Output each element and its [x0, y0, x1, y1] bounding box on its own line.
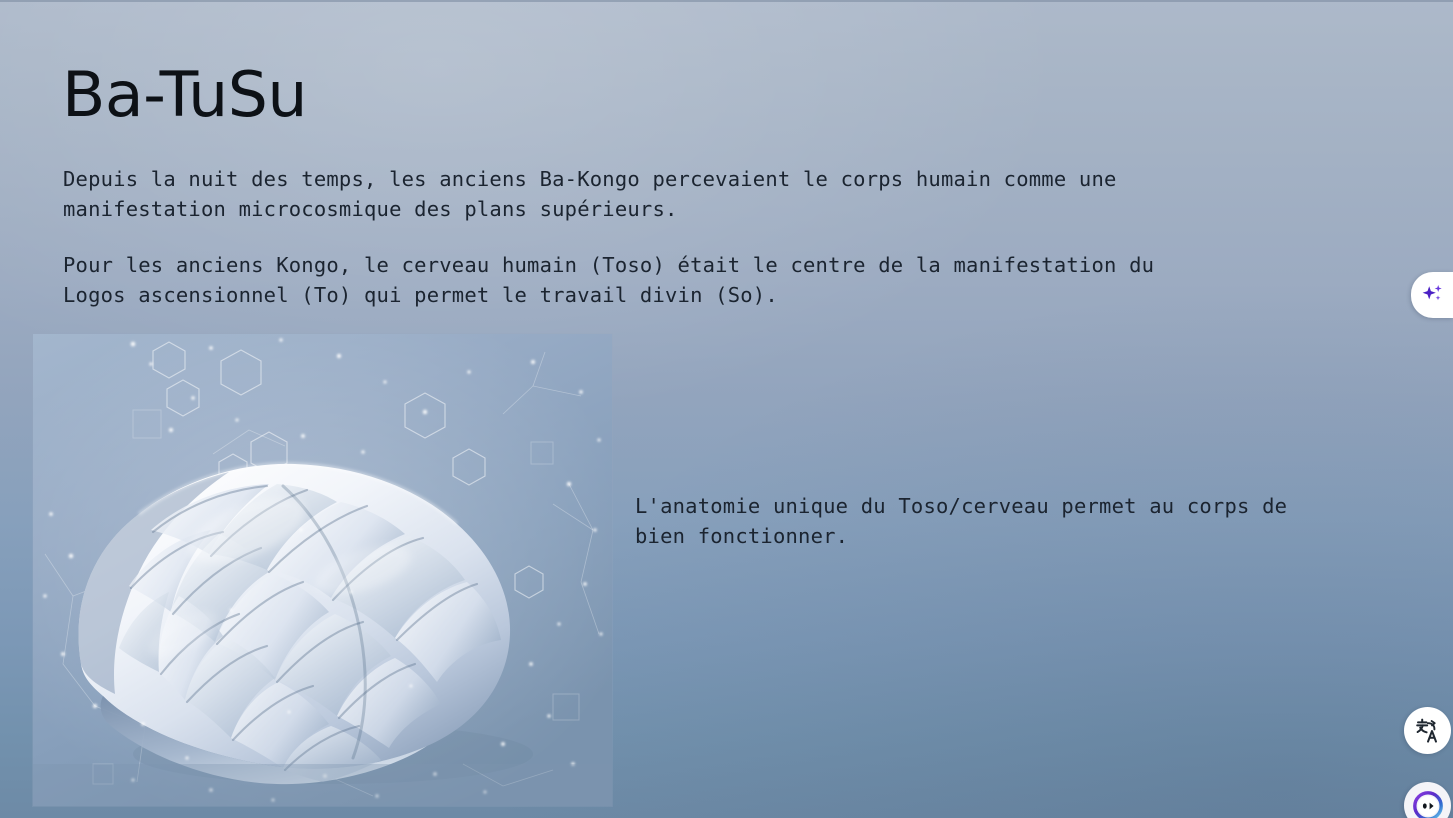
ai-sparkles-button[interactable] — [1411, 272, 1453, 318]
sparkles-icon — [1419, 282, 1445, 308]
top-edge-divider — [0, 0, 1453, 2]
body-paragraph-3: L'anatomie unique du Toso/cerveau permet… — [635, 492, 1435, 551]
account-avatar-button[interactable] — [1404, 782, 1451, 818]
translate-icon — [1413, 716, 1443, 746]
avatar-icon — [1411, 789, 1445, 818]
body-paragraph-1: Depuis la nuit des temps, les anciens Ba… — [63, 165, 1393, 224]
page-title: Ba-TuSu — [62, 62, 307, 128]
presentation-slide: Ba-TuSu Depuis la nuit des temps, les an… — [0, 0, 1453, 818]
translate-button[interactable] — [1404, 707, 1451, 754]
brain-illustration-graphic — [33, 334, 612, 806]
brain-illustration — [33, 334, 612, 806]
body-paragraph-2: Pour les anciens Kongo, le cerveau humai… — [63, 251, 1393, 310]
